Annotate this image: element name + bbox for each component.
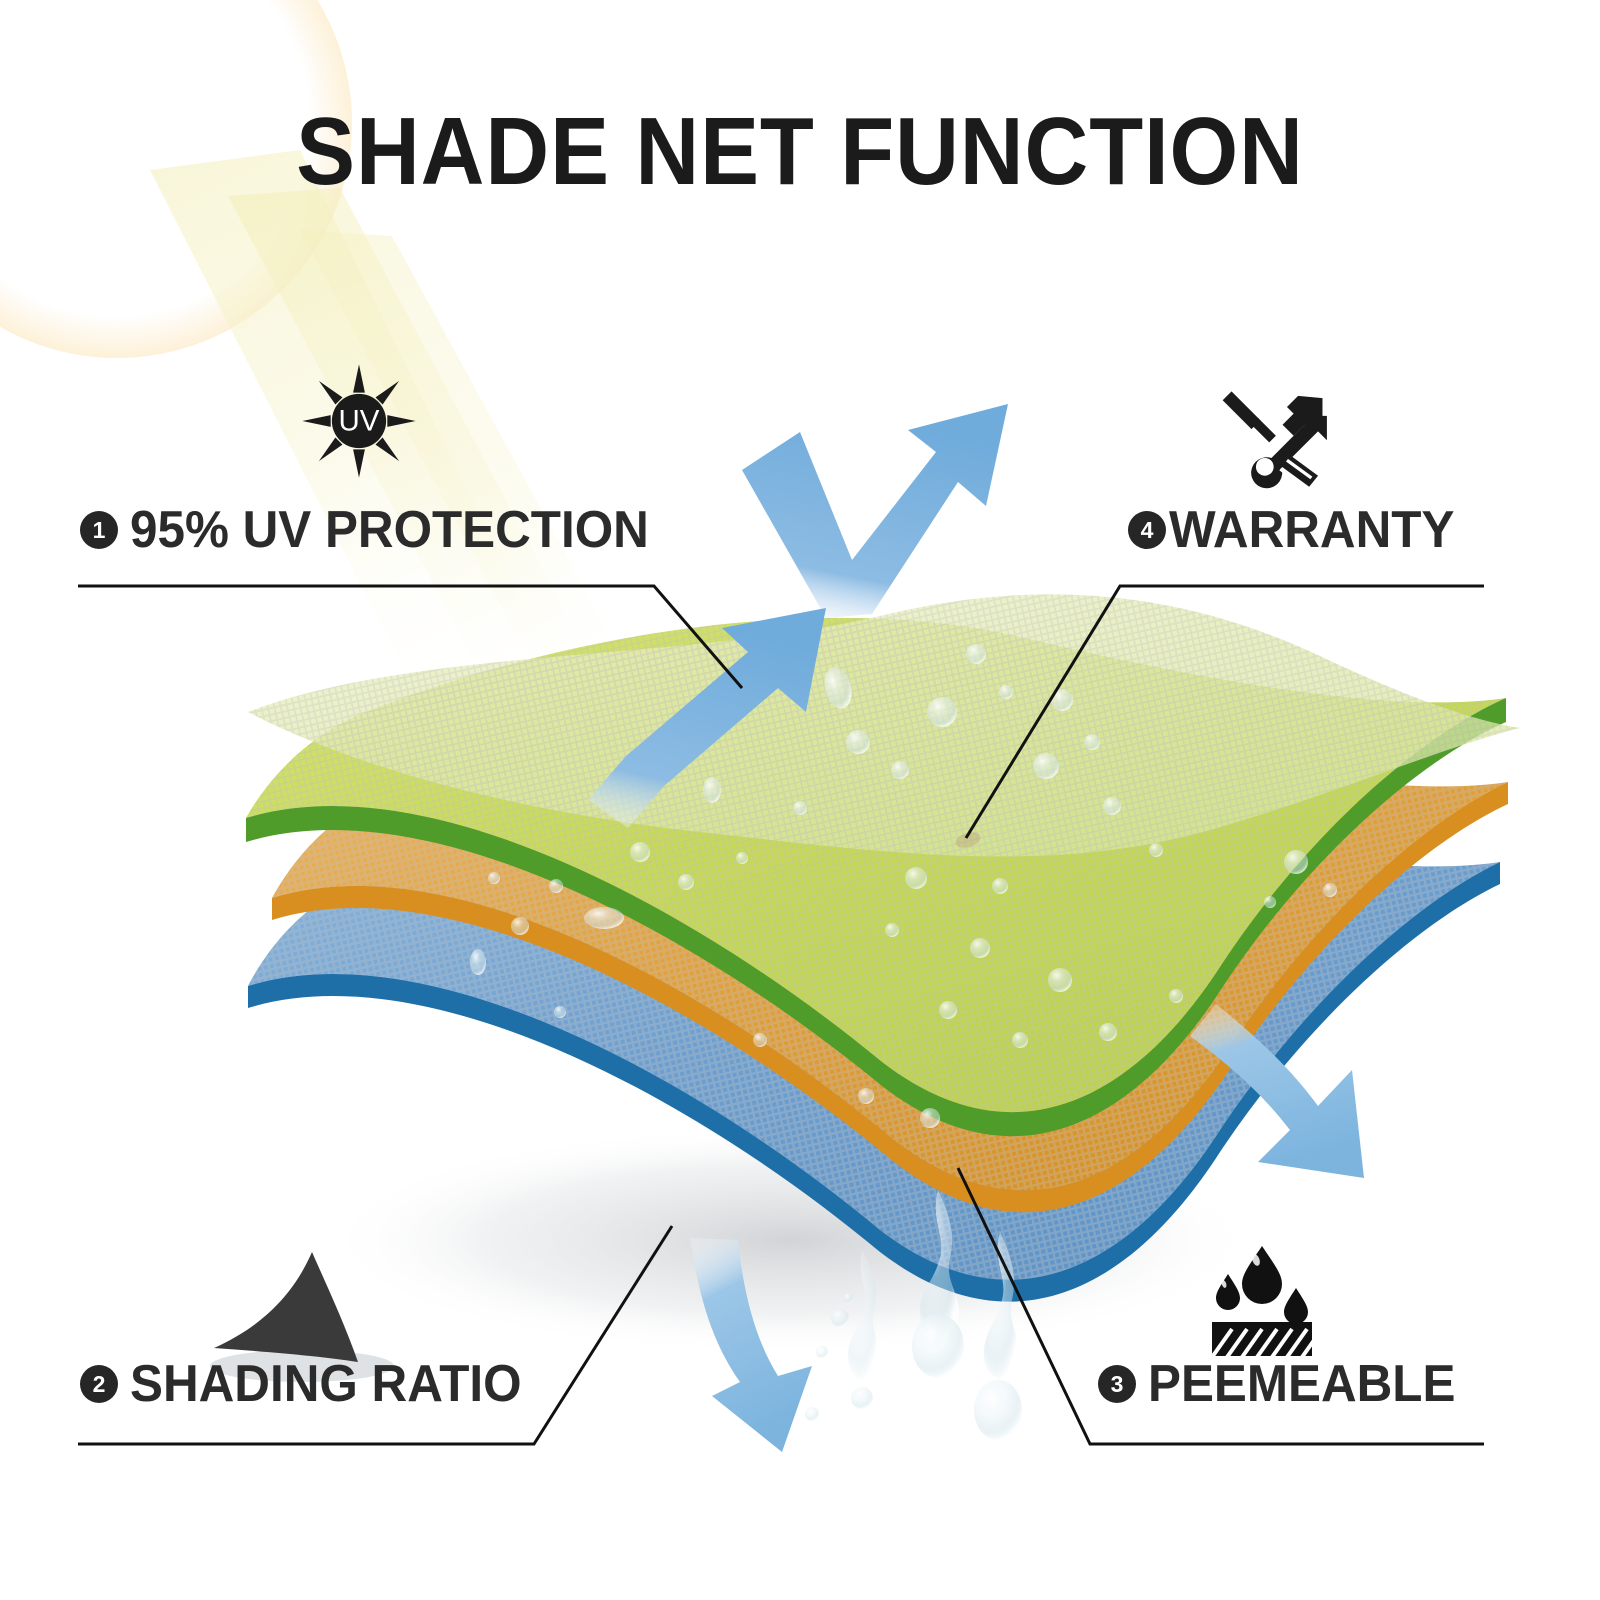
uv-sun-icon: UV (300, 362, 418, 485)
water-through-mesh-icon (1196, 1240, 1328, 1365)
feature-label-uv-protection: 1 95% UV PROTECTION (80, 504, 676, 556)
feature-title-3: PEEMEABLE (1148, 1358, 1455, 1410)
feature-title-2: SHADING RATIO (130, 1358, 522, 1410)
feature-title-4: WARRANTY (1169, 504, 1454, 556)
feature-badge-1: 1 (80, 511, 118, 549)
feature-badge-4: 4 (1128, 511, 1166, 549)
feature-label-warranty: 4 WARRANTY (1128, 504, 1469, 556)
feature-label-permeable: 3 PEEMEABLE (1098, 1358, 1472, 1410)
feature-title-1: 95% UV PROTECTION (130, 504, 649, 556)
uv-reflect-bounce-arrow (742, 404, 1008, 618)
feature-badge-2: 2 (80, 1365, 118, 1403)
feature-badge-3: 3 (1098, 1365, 1136, 1403)
feature-label-shading-ratio: 2 SHADING RATIO (80, 1358, 542, 1410)
infographic-canvas: SHADE NET FUNCTION (0, 0, 1600, 1600)
svg-text:UV: UV (339, 404, 380, 437)
wrench-screwdriver-icon (1216, 382, 1338, 499)
